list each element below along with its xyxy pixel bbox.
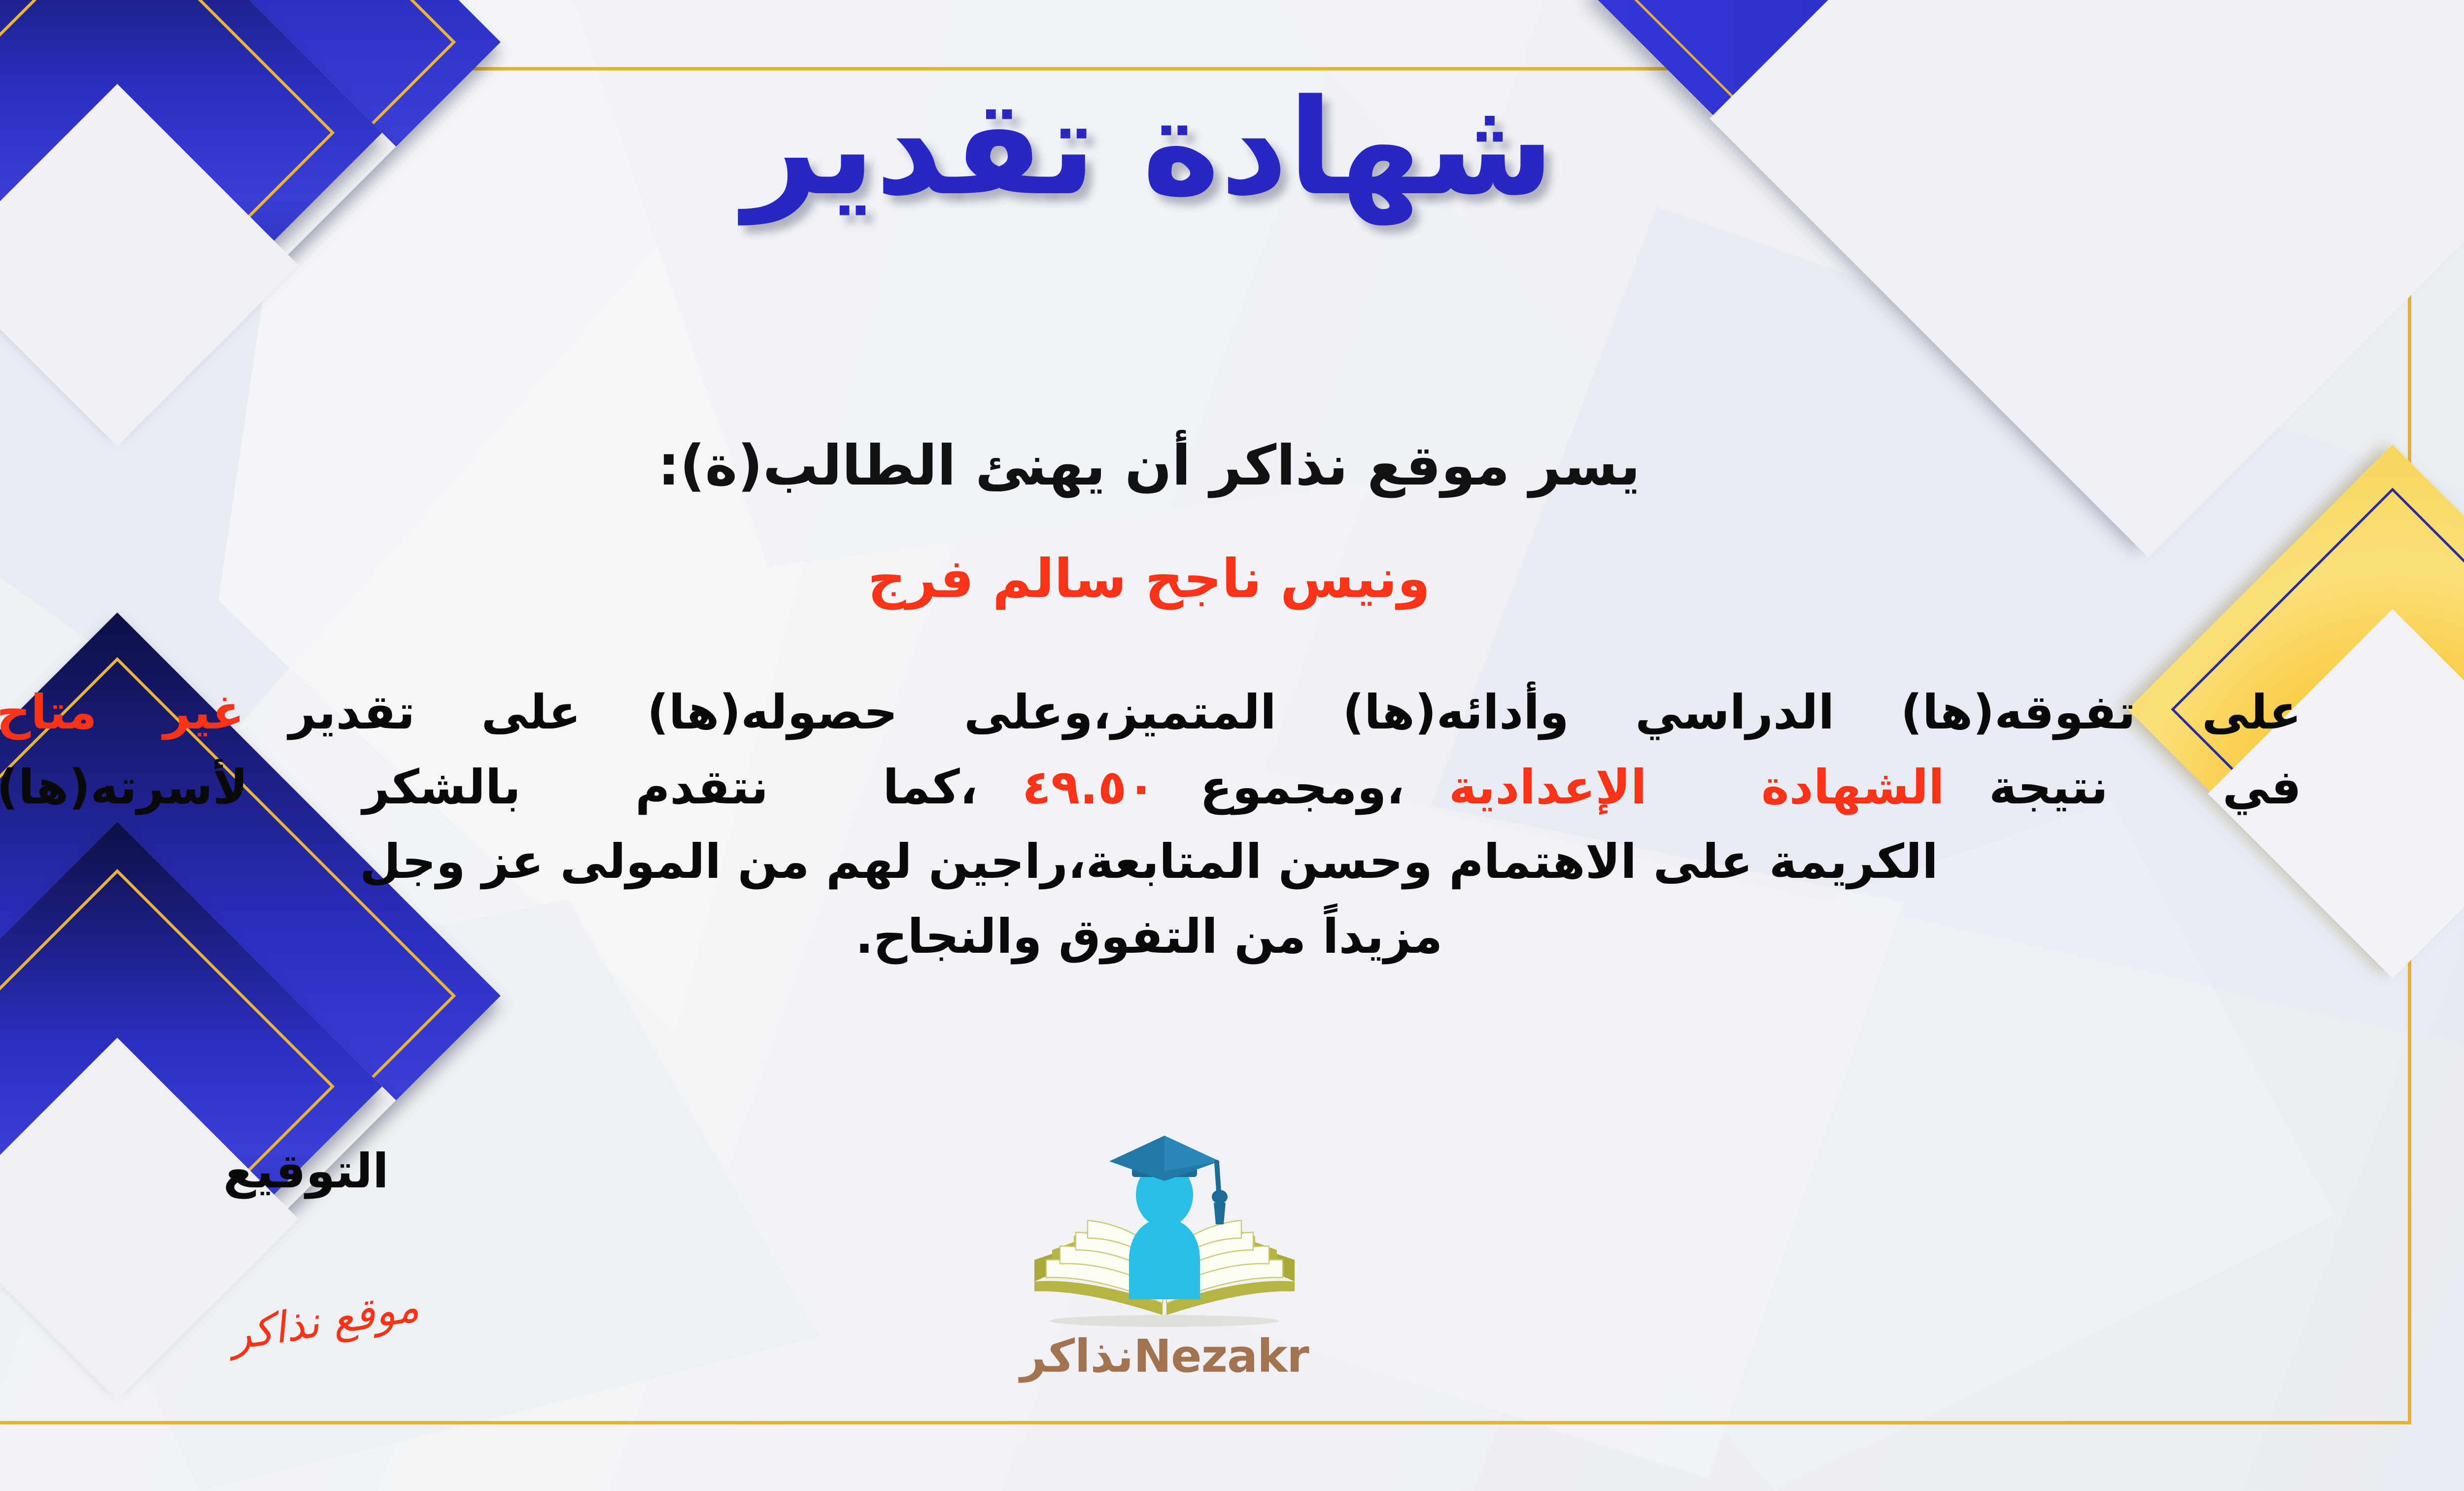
body-line-4: مزيداً من التفوق والنجاح.	[0, 900, 2301, 974]
grade-value: غير متاح	[0, 685, 244, 740]
certificate-body: على تفوقه(ها) الدراسي وأدائه(ها) المتميز…	[0, 675, 2301, 974]
exam-name: الشهادة الإعدادية	[1449, 760, 1945, 815]
body-line-1: على تفوقه(ها) الدراسي وأدائه(ها) المتميز…	[0, 675, 2301, 750]
student-name: ونيس ناجح سالم فرج	[0, 548, 2464, 610]
certificate-title: شهادة تقدير	[0, 79, 2464, 217]
logo-wordmark: Nezakrنذاكر	[972, 1334, 1357, 1379]
total-score: ٤٩.٥٠	[1022, 760, 1156, 815]
body-line-2-suffix: ،كما نتقدم بالشكر لأسرته(ها)	[0, 760, 978, 815]
body-line-1-text: على تفوقه(ها) الدراسي وأدائه(ها) المتميز…	[289, 685, 2301, 740]
body-line-3: الكريمة على الاهتمام وحسن المتابعة،راجين…	[0, 825, 2301, 900]
body-line-2: في نتيجةالشهادة الإعدادية،ومجموع٤٩.٥٠،كم…	[0, 750, 2301, 825]
logo-wordmark-latin: Nezakr	[1133, 1330, 1309, 1383]
certificate-content: شهادة تقدير يسر موقع نذاكر أن يهنئ الطال…	[0, 0, 2464, 1491]
body-line-2-middle: ،ومجموع	[1200, 760, 1404, 815]
intro-text: يسر موقع نذاكر أن يهنئ الطالب(ة):	[0, 434, 2464, 498]
site-logo: Nezakrنذاكر	[972, 1134, 1357, 1410]
body-line-2-prefix: في نتيجة	[1989, 760, 2301, 815]
signature-label: التوقيع	[223, 1144, 389, 1199]
certificate-page: شهادة تقدير يسر موقع نذاكر أن يهنئ الطال…	[0, 0, 2464, 1491]
logo-wordmark-arabic: نذاكر	[1020, 1330, 1133, 1383]
graduation-book-icon	[1027, 1134, 1302, 1331]
signature-mark: موقع نذاكر	[227, 1282, 422, 1360]
